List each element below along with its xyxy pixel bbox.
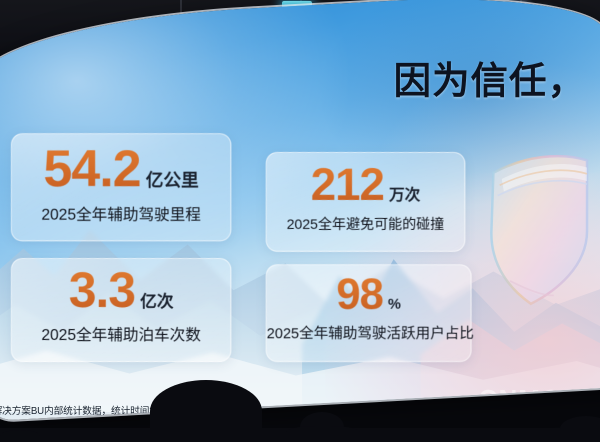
- stat-value-row: 212 万次: [267, 163, 465, 206]
- stat-unit: 万次: [389, 187, 420, 203]
- stat-value: 54.2: [43, 145, 140, 194]
- stat-unit: %: [388, 297, 401, 312]
- page-title: 因为信任，: [394, 63, 586, 100]
- stat-caption: 2025全年辅助泊车次数: [12, 327, 230, 343]
- screenshot-root: 因为信任，: [0, 0, 600, 442]
- audience-head: [0, 430, 40, 442]
- stat-value-row: 54.2 亿公里: [12, 145, 230, 194]
- audience-head: [286, 426, 360, 442]
- stat-caption: 2025全年避免可能的碰撞: [267, 217, 465, 231]
- stat-value-row: 98 %: [267, 274, 471, 315]
- presentation-screen: 因为信任，: [0, 0, 600, 421]
- stat-caption: 2025全年辅助驾驶里程: [12, 207, 230, 223]
- stat-card-assisted-parking-count: 3.3 亿次 2025全年辅助泊车次数: [11, 258, 231, 362]
- stat-card-assisted-driving-mileage: 54.2 亿公里 2025全年辅助驾驶里程: [11, 133, 231, 241]
- stat-card-collisions-avoided: 212 万次 2025全年避免可能的碰撞: [266, 152, 466, 252]
- stat-card-active-user-ratio: 98 % 2025全年辅助驾驶活跃用户占比: [266, 264, 472, 362]
- stat-value: 98: [336, 274, 383, 315]
- shield-icon: [479, 150, 595, 306]
- stat-caption: 2025全年辅助驾驶活跃用户占比: [267, 326, 471, 341]
- audience-head: [560, 416, 600, 442]
- stat-value: 212: [311, 163, 384, 206]
- stat-value: 3.3: [69, 267, 135, 314]
- stat-unit: 亿公里: [146, 172, 199, 190]
- audience-head: [150, 380, 262, 442]
- stat-unit: 亿次: [140, 294, 173, 311]
- stat-value-row: 3.3 亿次: [12, 267, 230, 314]
- slide-footnote: 汽车解决方案BU内部统计数据，统计时间2025年1月1日至2025年12月31日…: [0, 406, 597, 418]
